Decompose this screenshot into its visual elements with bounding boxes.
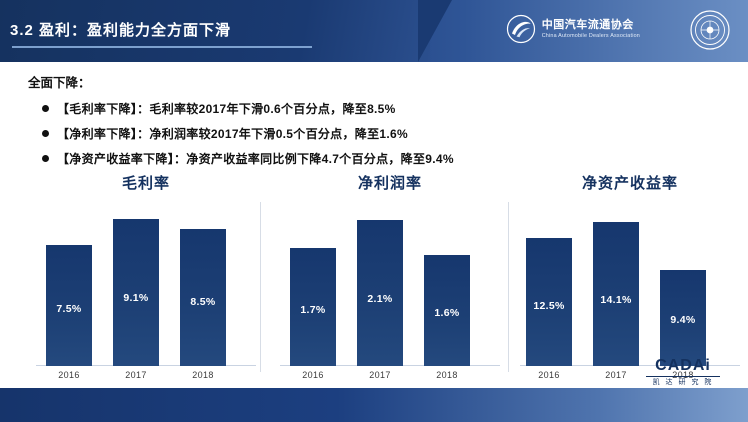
bar-value-label: 12.5%: [526, 300, 572, 312]
chart-divider: [508, 202, 509, 372]
bar-value-label: 8.5%: [180, 296, 226, 308]
title-underline: [12, 46, 312, 48]
bar-value-label: 7.5%: [46, 303, 92, 315]
chart-divider: [260, 202, 261, 372]
x-tick-label: 2017: [593, 370, 639, 380]
chart-plot: 7.5%9.1%8.5%: [36, 198, 256, 366]
bullet-heading: 全面下降：: [28, 72, 728, 91]
slide-root: 3.2 盈利：盈利能力全方面下滑 中国汽车流通协会 China Automobi…: [0, 0, 748, 422]
institute-logo: CADAi 凯 达 研 究 院: [640, 357, 726, 388]
bar-value-label: 9.1%: [113, 292, 159, 304]
chart-gross-margin: 毛利率 7.5%9.1%8.5% 2016 2017 2018: [36, 172, 256, 388]
bullet-dot-icon: [42, 130, 49, 137]
chart-plot: 12.5%14.1%9.4%: [520, 198, 740, 366]
list-item-text: 【毛利率下降】：毛利率较2017年下滑0.6个百分点，降至8.5%: [57, 100, 396, 117]
list-item: 【净资产收益率下降】：净资产收益率同比例下降4.7个百分点，降至9.4%: [42, 150, 728, 167]
x-tick-label: 2016: [526, 370, 572, 380]
charts-area: 毛利率 7.5%9.1%8.5% 2016 2017 2018 净利润率 1.7…: [0, 172, 748, 388]
page-title-text: 3.2 盈利：盈利能力全方面下滑: [10, 17, 231, 45]
x-tick-label: 2017: [113, 370, 159, 380]
chart-title: 净资产收益率: [520, 172, 740, 193]
bar-value-label: 1.7%: [290, 304, 336, 316]
x-tick-label: 2016: [290, 370, 336, 380]
header-diagonal-accent: [418, 0, 452, 62]
bar-value-label: 1.6%: [424, 307, 470, 319]
bullet-dot-icon: [42, 155, 49, 162]
institute-logo-rule: [646, 376, 720, 377]
bar-value-label: 14.1%: [593, 294, 639, 306]
chart-net-profit-margin: 净利润率 1.7%2.1%1.6% 2016 2017 2018: [280, 172, 500, 388]
association-name-cn: 中国汽车流通协会: [542, 19, 640, 32]
list-item: 【净利率下降】：净利润率较2017年下滑0.5个百分点，降至1.6%: [42, 125, 728, 142]
bar-value-label: 9.4%: [660, 314, 706, 326]
x-tick-label: 2018: [180, 370, 226, 380]
chart-title: 毛利率: [36, 172, 256, 193]
cadai-swoosh-icon: [506, 14, 536, 44]
bullet-section: 全面下降： 【毛利率下降】：毛利率较2017年下滑0.6个百分点，降至8.5% …: [28, 72, 728, 175]
chart-roe: 净资产收益率 12.5%14.1%9.4% 2016 2017 2018: [520, 172, 740, 388]
page-title: 3.2 盈利：盈利能力全方面下滑: [10, 17, 231, 45]
list-item: 【毛利率下降】：毛利率较2017年下滑0.6个百分点，降至8.5%: [42, 100, 728, 117]
x-tick-label: 2016: [46, 370, 92, 380]
bar-value-label: 2.1%: [357, 293, 403, 305]
institute-logo-text: CADAi: [640, 357, 726, 374]
chart-title: 净利润率: [280, 172, 500, 193]
institute-logo-sub: 凯 达 研 究 院: [640, 378, 726, 388]
list-item-text: 【净资产收益率下降】：净资产收益率同比例下降4.7个百分点，降至9.4%: [57, 150, 454, 167]
list-item-text: 【净利率下降】：净利润率较2017年下滑0.5个百分点，降至1.6%: [57, 125, 408, 142]
x-tick-label: 2017: [357, 370, 403, 380]
x-tick-label: 2018: [424, 370, 470, 380]
bullet-dot-icon: [42, 105, 49, 112]
association-name-en: China Automobile Dealers Association: [542, 32, 640, 40]
chart-plot: 1.7%2.1%1.6%: [280, 198, 500, 366]
association-logo: 中国汽车流通协会 China Automobile Dealers Associ…: [506, 14, 640, 44]
slide-header: 3.2 盈利：盈利能力全方面下滑 中国汽车流通协会 China Automobi…: [0, 0, 748, 62]
slide-footer: [0, 388, 748, 422]
circular-seal-icon: [690, 10, 730, 50]
